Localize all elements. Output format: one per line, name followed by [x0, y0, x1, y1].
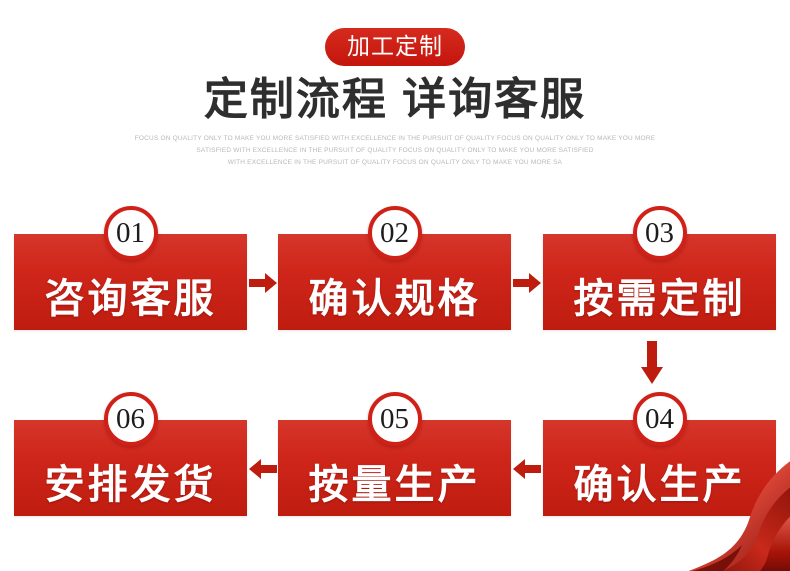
step-number-badge-01: 01 — [104, 206, 158, 260]
custom-process-banner: 加工定制 定制流程 详询客服 FOCUS ON QUALITY ONLY TO … — [0, 0, 790, 571]
arrow-down-icon-1 — [640, 341, 664, 385]
step-label-03: 按需定制 — [543, 276, 776, 322]
step-label-01: 咨询客服 — [14, 276, 247, 322]
process-step-06[interactable]: 06 安排发货 — [14, 420, 247, 516]
arrow-right-icon-1 — [249, 272, 277, 294]
process-step-03[interactable]: 03 按需定制 — [543, 234, 776, 330]
arrow-right-icon-2 — [513, 272, 541, 294]
step-number-badge-02: 02 — [368, 206, 422, 260]
arrow-left-icon-2 — [249, 458, 277, 480]
step-number-badge-03: 03 — [633, 206, 687, 260]
step-number-badge-06: 06 — [104, 392, 158, 446]
process-step-02[interactable]: 02 确认规格 — [278, 234, 511, 330]
step-label-05: 按量生产 — [278, 462, 511, 508]
process-step-05[interactable]: 05 按量生产 — [278, 420, 511, 516]
step-label-04: 确认生产 — [543, 462, 776, 508]
step-number-badge-05: 05 — [368, 392, 422, 446]
step-label-02: 确认规格 — [278, 276, 511, 322]
arrow-left-icon-1 — [513, 458, 541, 480]
process-flow: 01 咨询客服 02 确认规格 03 按需定制 04 确认生产 05 按量生产 … — [0, 0, 790, 571]
step-number-badge-04: 04 — [633, 392, 687, 446]
process-step-01[interactable]: 01 咨询客服 — [14, 234, 247, 330]
process-step-04[interactable]: 04 确认生产 — [543, 420, 776, 516]
step-label-06: 安排发货 — [14, 462, 247, 508]
